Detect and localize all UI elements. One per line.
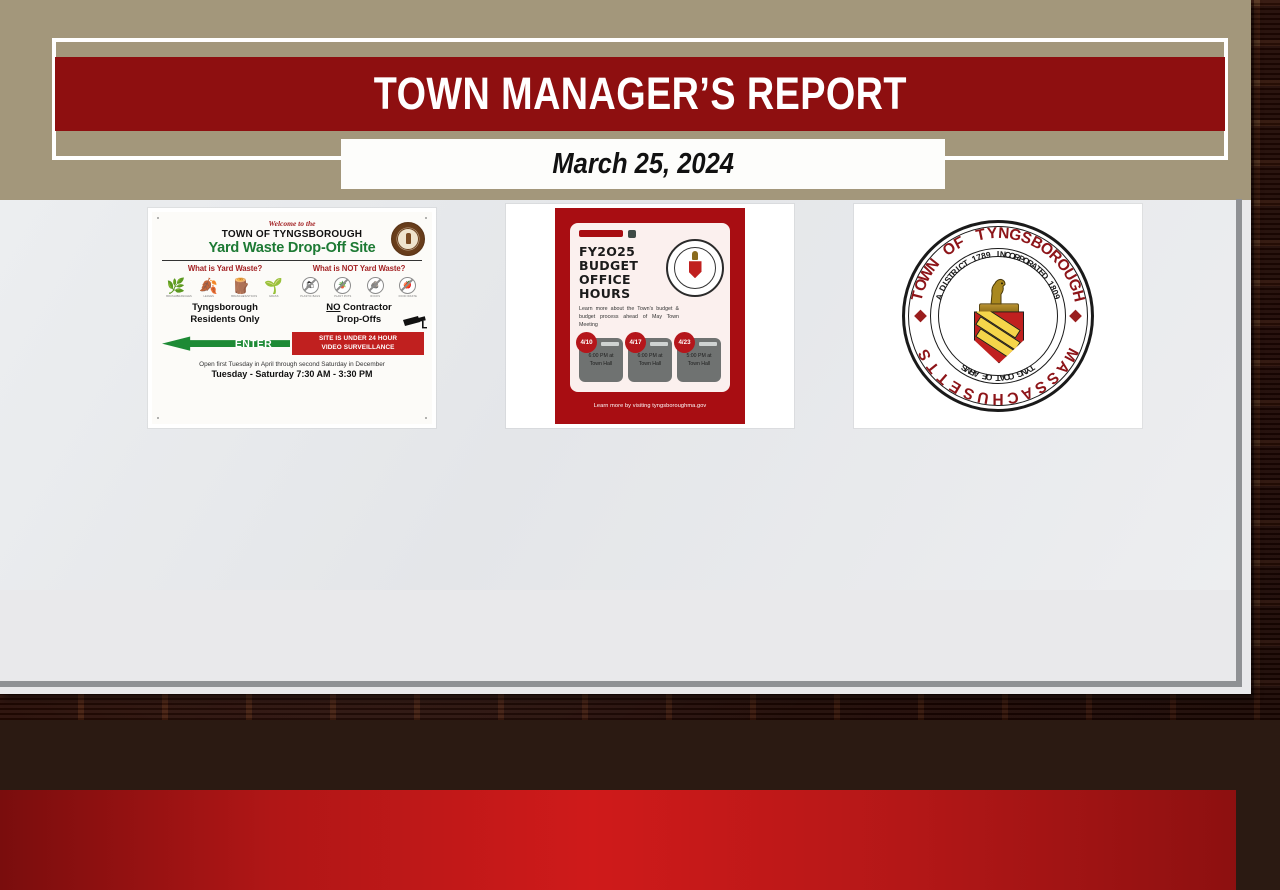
fy25-budget-office-hours-flyer: FY2O25 BUDGET OFFICE HOURS Learn more ab… (510, 208, 790, 424)
card-image-frame[interactable]: TOWNOFTYNGSBOROUGH MASSACHUSETTS ADISTRI… (854, 204, 1142, 428)
card-image-frame[interactable]: FY2O25 BUDGET OFFICE HOURS Learn more ab… (506, 204, 794, 428)
page-title: TOWN MANAGER’S REPORT (373, 68, 906, 120)
town-of-tyngsborough-seal: TOWNOFTYNGSBOROUGH MASSACHUSETTS ADISTRI… (900, 218, 1096, 414)
town-seal-container: TOWNOFTYNGSBOROUGH MASSACHUSETTS ADISTRI… (858, 208, 1138, 424)
branches-icon: 🪵 BRANCHES/STICKS (231, 279, 251, 298)
security-camera-icon (402, 315, 428, 329)
title-red-bar: TOWN MANAGER’S REPORT (55, 57, 1225, 131)
season-line: Open first Tuesday in April through seco… (160, 361, 424, 368)
no-plant-pots-icon: 🪴 PLANT POTS (333, 274, 353, 298)
surveillance-notice: SITE IS UNDER 24 HOUR VIDEO SURVEILLANCE (292, 332, 424, 355)
date-box: March 25, 2024 (341, 139, 945, 189)
sign-site-title: Yard Waste Drop-Off Site (160, 240, 424, 256)
session-item: 4/10 6:00 PM at Town Hall (579, 338, 623, 382)
no-rocks-icon: 🪨 ROCKS (365, 274, 385, 298)
hours-line: Tuesday - Saturday 7:30 AM - 3:30 PM (160, 369, 424, 379)
accepted-column: What is Yard Waste? 🌿 BRUSH/BRANCHES 🍂 L… (160, 264, 290, 326)
no-plastic-bags-icon: 🛍 PLASTIC BAGS (300, 274, 320, 298)
red-pill-shape (579, 230, 623, 237)
flyer-white-card: FY2O25 BUDGET OFFICE HOURS Learn more ab… (570, 223, 730, 393)
flyer-accent-row (579, 230, 721, 238)
yard-waste-drop-off-sign: Welcome to the TOWN OF TYNGSBOROUGH Yard… (152, 212, 432, 424)
leaves-icon: 🍂 LEAVES (199, 279, 219, 298)
card-row: Yard Waste Drop Off Site to Open on Apri… (0, 200, 1236, 590)
rejected-question: What is NOT Yard Waste? (294, 264, 424, 273)
panel-accent-bar (650, 342, 668, 346)
panel-accent-bar (601, 342, 619, 346)
no-food-waste-icon: 🍎 FOOD WASTE (398, 274, 418, 298)
flyer-title: FY2O25 BUDGET OFFICE HOURS (579, 245, 674, 301)
no-word: NO (326, 302, 340, 313)
enter-arrow: ENTER (160, 333, 288, 354)
session-detail: 5:00 PM at Town Hall (681, 353, 717, 369)
accepted-question: What is Yard Waste? (160, 264, 290, 273)
flyer-red-panel: FY2O25 BUDGET OFFICE HOURS Learn more ab… (555, 208, 745, 424)
session-item: 4/23 5:00 PM at Town Hall (677, 338, 721, 382)
report-date: March 25, 2024 (552, 148, 734, 181)
town-seal-icon (666, 239, 724, 297)
card-yard-waste: Yard Waste Drop Off Site to Open on Apri… (140, 200, 440, 590)
contractor-word: Contractor (341, 302, 392, 313)
sign-town-name: TOWN OF TYNGSBOROUGH (160, 229, 424, 240)
flyer-footer: Learn more by visiting tyngsboroughma.go… (594, 403, 707, 409)
slide-content-area: Yard Waste Drop Off Site to Open on Apri… (0, 200, 1236, 590)
session-item: 4/17 6:00 PM at Town Hall (628, 338, 672, 382)
session-detail: 6:00 PM at Town Hall (583, 353, 619, 369)
session-detail: 6:00 PM at Town Hall (632, 353, 668, 369)
residents-only-text: Tyngsborough Residents Only (160, 302, 290, 326)
grass-icon: 🌱 GRASS (264, 279, 284, 298)
enter-label: ENTER (235, 338, 272, 350)
town-seal-icon (391, 222, 425, 256)
sign-bottom-row: ENTER SITE IS UNDER 24 HOUR VIDEO SURVEI… (160, 332, 424, 355)
session-list: 4/10 6:00 PM at Town Hall 4/17 (579, 338, 721, 382)
card-budget-office-hours: Town Manager to host FY25 Budget Office … (498, 200, 798, 590)
divider (162, 260, 422, 261)
accepted-icon-row: 🌿 BRUSH/BRANCHES 🍂 LEAVES 🪵 (160, 276, 290, 298)
slide-canvas: TOWN MANAGER’S REPORT March 25, 2024 Yar… (0, 0, 1251, 694)
drop-offs-word: Drop-Offs (337, 314, 381, 325)
brush-icon: 🌿 BRUSH/BRANCHES (166, 279, 186, 298)
flyer-subtitle: Learn more about the Town's budget & bud… (579, 305, 679, 330)
dark-square-shape (628, 230, 636, 238)
slide-header-band: TOWN MANAGER’S REPORT March 25, 2024 (0, 0, 1251, 200)
footer-red-bar (0, 790, 1236, 890)
card-community-group-registration: Community Group Registration for Meeting… (846, 200, 1146, 590)
sign-welcome-text: Welcome to the (160, 219, 424, 228)
tyng-coat-of-arms (967, 277, 1029, 361)
rejected-icon-row: 🛍 PLASTIC BAGS 🪴 PLANT POTS 🪨 (294, 276, 424, 298)
card-image-frame[interactable]: Welcome to the TOWN OF TYNGSBOROUGH Yard… (148, 208, 436, 428)
panel-accent-bar (699, 342, 717, 346)
sign-columns: What is Yard Waste? 🌿 BRUSH/BRANCHES 🍂 L… (160, 264, 424, 326)
horse-crest-icon (987, 277, 1009, 305)
